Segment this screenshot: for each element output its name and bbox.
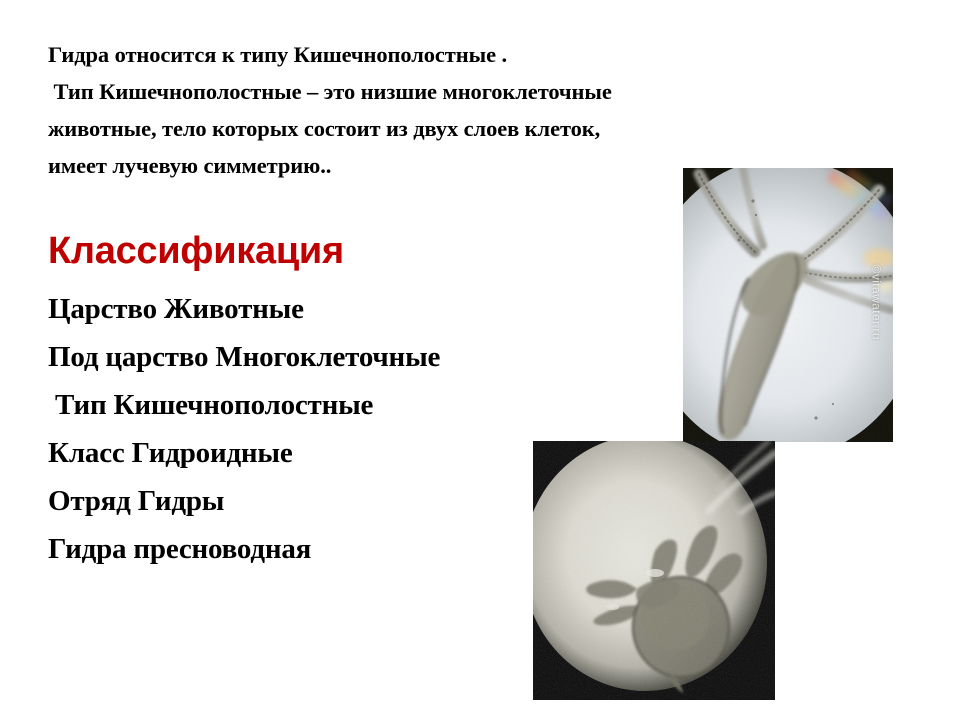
intro-line: животные, тело которых состоит из двух с… [48, 110, 688, 147]
taxonomy-item: Царство Животные [48, 285, 668, 333]
taxonomy-item: Под царство Многоклеточные [48, 333, 668, 381]
intro-paragraph: Гидра относится к типу Кишечнополостные … [48, 36, 688, 184]
hydra-photo-bottom [533, 441, 775, 700]
presentation-slide: Гидра относится к типу Кишечнополостные … [0, 0, 960, 720]
hydra-photo-bottom-graphic [533, 441, 775, 700]
hydra-photo-top-graphic [683, 168, 893, 442]
hydra-photo-top: ©vitawater.ru [683, 168, 893, 442]
intro-line: имеет лучевую симметрию.. [48, 147, 688, 184]
taxonomy-item: Тип Кишечнополостные [48, 381, 668, 429]
intro-line: Тип Кишечнополостные – это низшие многок… [48, 73, 688, 110]
classification-heading: Классификация [48, 229, 344, 273]
intro-line: Гидра относится к типу Кишечнополостные … [48, 36, 688, 73]
